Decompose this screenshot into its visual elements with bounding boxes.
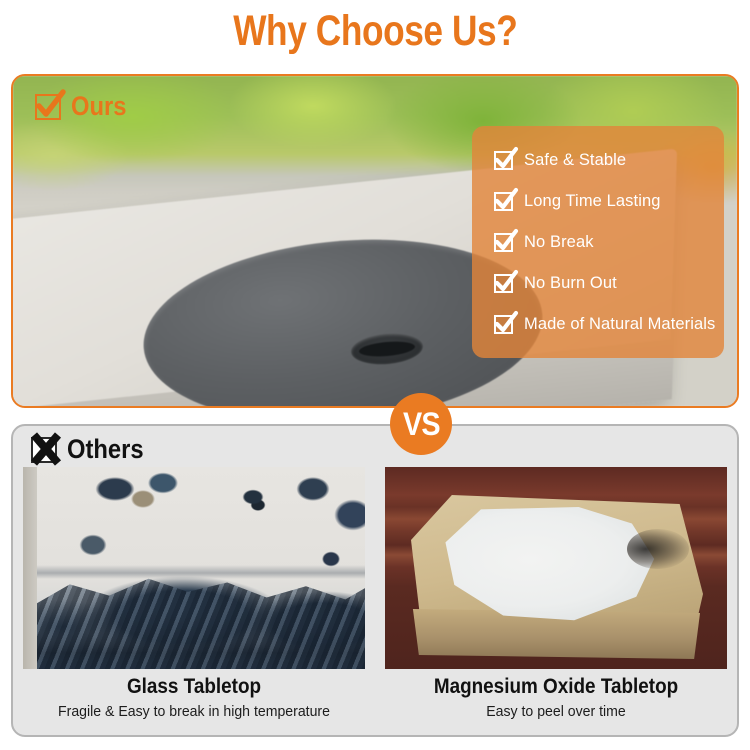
feature-item: No Burn Out [472,263,724,304]
brick-wall-background-shape [385,467,727,669]
feature-item-label: Made of Natural Materials [524,315,715,334]
caption-subtitle: Fragile & Easy to break in high temperat… [33,703,354,720]
caption-subtitle: Easy to peel over time [395,703,716,720]
others-caption-row: Glass Tabletop Fragile & Easy to break i… [23,675,727,720]
feature-item-label: No Burn Out [524,274,617,293]
checkbox-checked-icon [494,151,513,170]
feature-item: Safe & Stable [472,140,724,181]
others-panel: Others Glass Tabletop Fragile & Easy to … [11,424,739,737]
magnesium-oxide-tabletop-photo [385,467,727,669]
ours-feature-list: Safe & Stable Long Time Lasting No Break [472,126,724,358]
x-mark-icon [31,437,57,463]
feature-item: No Break [472,222,724,263]
broken-glass-shards-shape [23,467,365,669]
caption-glass: Glass Tabletop Fragile & Easy to break i… [23,675,365,720]
checkbox-checked-icon [494,233,513,252]
page-header: Why Choose Us? [0,0,750,62]
feature-item-label: Safe & Stable [524,151,626,170]
feature-item-label: Long Time Lasting [524,192,661,211]
others-badge-label: Others [67,434,144,465]
comparison-item-mgo [385,467,727,669]
checkbox-checked-icon [494,274,513,293]
checkbox-checked-icon [494,315,513,334]
ours-badge-label: Ours [71,91,126,122]
ours-badge: Ours [35,91,134,122]
vs-badge-label: VS [403,406,440,443]
caption-title: Glass Tabletop [40,675,348,699]
others-comparison-grid [23,467,727,669]
page-title: Why Choose Us? [233,7,517,56]
others-badge: Others [31,434,154,465]
burn-mark-shape [627,529,689,569]
checkbox-checked-icon [35,94,61,120]
comparison-item-glass [23,467,365,669]
checkbox-checked-icon [494,192,513,211]
caption-title: Magnesium Oxide Tabletop [402,675,710,699]
feature-item: Long Time Lasting [472,181,724,222]
feature-item: Made of Natural Materials [472,304,724,345]
ours-panel: Ours Safe & Stable Long Time Lasting [11,74,739,408]
glass-tabletop-photo [23,467,365,669]
caption-mgo: Magnesium Oxide Tabletop Easy to peel ov… [385,675,727,720]
vs-badge: VS [390,393,452,455]
feature-item-label: No Break [524,233,594,252]
